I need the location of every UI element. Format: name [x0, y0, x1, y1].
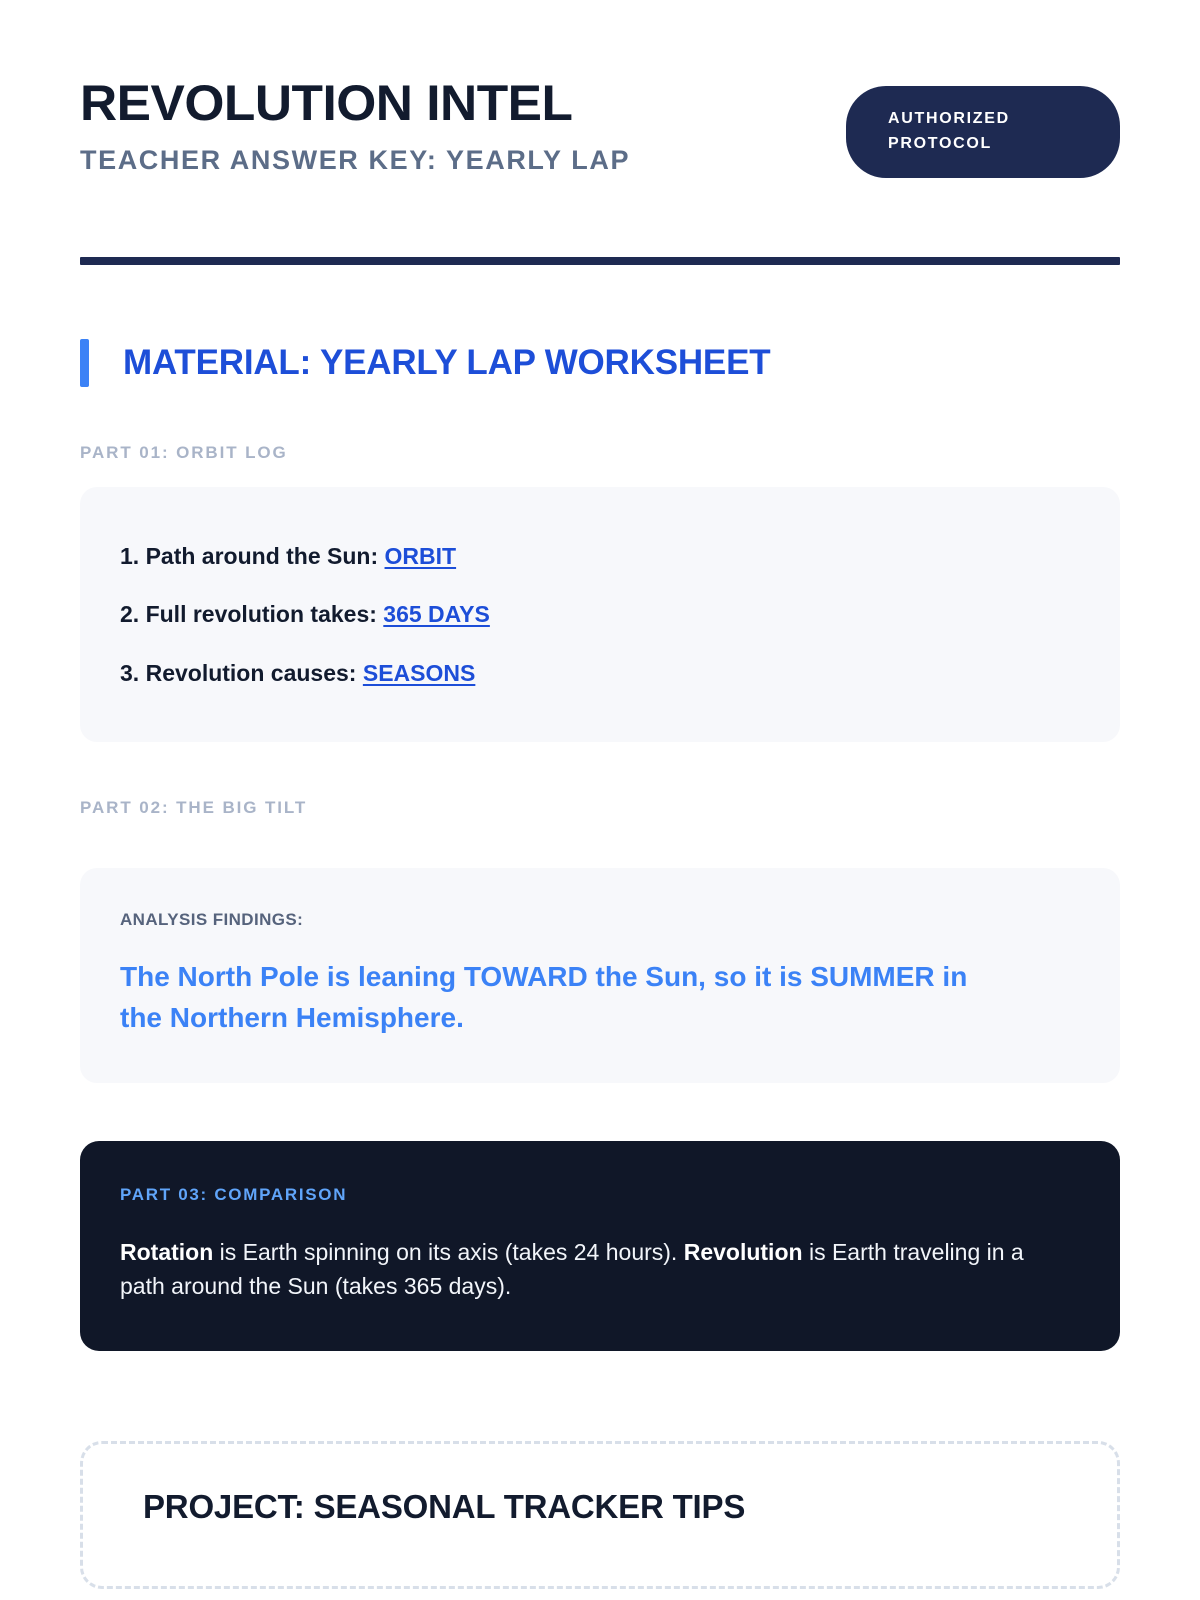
item-answer: SEASONS — [363, 660, 475, 686]
comparison-text: Rotation is Earth spinning on its axis (… — [120, 1235, 1050, 1303]
list-item: 2. Full revolution takes: 365 DAYS — [120, 585, 1080, 643]
part-02-card: ANALYSIS FINDINGS: The North Pole is lea… — [80, 868, 1120, 1083]
comparison-text-one: is Earth spinning on its axis (takes 24 … — [213, 1239, 683, 1265]
header-text-block: REVOLUTION INTEL TEACHER ANSWER KEY: YEA… — [80, 78, 630, 179]
part-01-card: 1. Path around the Sun: ORBIT 2. Full re… — [80, 487, 1120, 742]
header-divider — [80, 257, 1120, 265]
item-prompt: Full revolution takes: — [146, 601, 377, 627]
item-answer: ORBIT — [385, 543, 457, 569]
item-prompt: Revolution causes: — [146, 660, 357, 686]
page-subtitle: TEACHER ANSWER KEY: YEARLY LAP — [80, 142, 630, 179]
analysis-findings-label: ANALYSIS FINDINGS: — [120, 910, 1080, 930]
item-number: 2. — [120, 601, 139, 627]
status-badge: AUTHORIZED PROTOCOL — [846, 86, 1120, 178]
orbit-log-list: 1. Path around the Sun: ORBIT 2. Full re… — [120, 527, 1080, 702]
item-number: 1. — [120, 543, 139, 569]
section-heading: MATERIAL: YEARLY LAP WORKSHEET — [80, 339, 1120, 387]
section-accent-bar — [80, 339, 89, 387]
item-answer: 365 DAYS — [383, 601, 490, 627]
term-revolution: Revolution — [684, 1239, 803, 1265]
analysis-findings-text: The North Pole is leaning TOWARD the Sun… — [120, 956, 980, 1039]
project-box: PROJECT: SEASONAL TRACKER TIPS — [80, 1441, 1120, 1589]
list-item: 1. Path around the Sun: ORBIT — [120, 527, 1080, 585]
list-item: 3. Revolution causes: SEASONS — [120, 644, 1080, 702]
part-03-label: PART 03: COMPARISON — [120, 1185, 1080, 1205]
document-header: REVOLUTION INTEL TEACHER ANSWER KEY: YEA… — [80, 0, 1120, 179]
item-number: 3. — [120, 660, 139, 686]
part-03-panel: PART 03: COMPARISON Rotation is Earth sp… — [80, 1141, 1120, 1351]
term-rotation: Rotation — [120, 1239, 213, 1265]
section-title: MATERIAL: YEARLY LAP WORKSHEET — [123, 343, 770, 383]
part-01-label: PART 01: ORBIT LOG — [80, 443, 1120, 463]
part-02-label: PART 02: THE BIG TILT — [80, 798, 1120, 818]
answer-key-page: REVOLUTION INTEL TEACHER ANSWER KEY: YEA… — [0, 0, 1200, 1600]
project-title: PROJECT: SEASONAL TRACKER TIPS — [143, 1488, 1057, 1526]
item-prompt: Path around the Sun: — [146, 543, 379, 569]
page-title: REVOLUTION INTEL — [80, 78, 647, 128]
